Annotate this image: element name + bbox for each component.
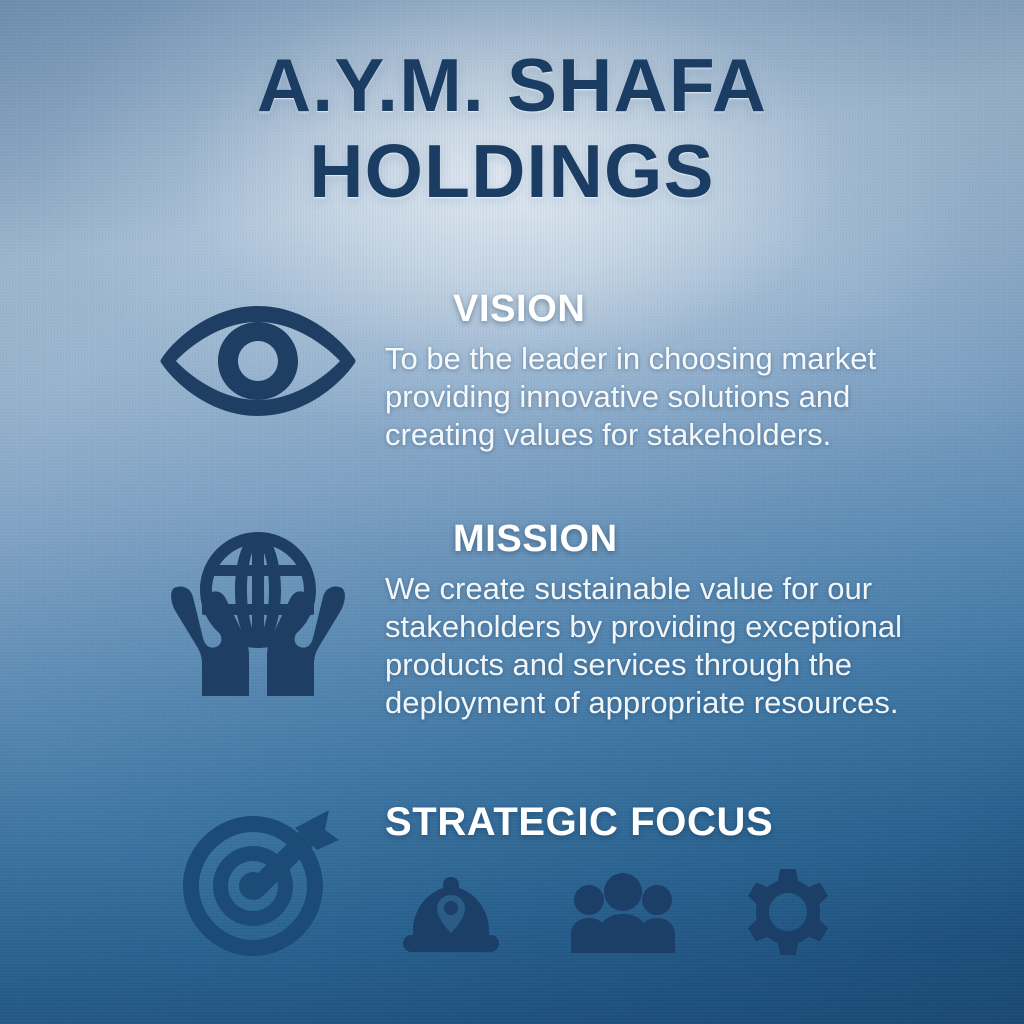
focus-item-operations: [743, 867, 833, 957]
eye-icon: [158, 300, 358, 420]
vision-heading: VISION: [385, 288, 946, 331]
strategy-text-block: STRATEGIC FOCUS: [385, 800, 962, 957]
section-vision: VISION To be the leader in choosing mark…: [130, 288, 946, 454]
strategy-icon-slot: [130, 800, 385, 971]
hard-hat-icon: [399, 873, 503, 957]
vision-body: To be the leader in choosing market prov…: [385, 340, 946, 454]
mission-text-block: MISSION We create sustainable value for …: [385, 518, 962, 722]
poster-canvas: A.Y.M. SHAFA HOLDINGS VISION To be the l…: [0, 0, 1024, 1024]
section-mission: MISSION We create sustainable value for …: [130, 518, 962, 722]
section-strategic-focus: STRATEGIC FOCUS: [130, 800, 962, 971]
company-title: A.Y.M. SHAFA HOLDINGS: [0, 42, 1024, 214]
strategic-focus-heading: STRATEGIC FOCUS: [385, 800, 962, 845]
vision-text-block: VISION To be the leader in choosing mark…: [385, 288, 946, 454]
people-group-icon: [567, 873, 679, 957]
strategic-focus-icon-row: [385, 867, 962, 957]
mission-heading: MISSION: [385, 518, 962, 561]
target-dart-icon: [173, 806, 343, 971]
mission-body: We create sustainable value for our stak…: [385, 570, 962, 722]
poster-content: A.Y.M. SHAFA HOLDINGS VISION To be the l…: [0, 0, 1024, 1024]
focus-item-people: [567, 873, 679, 957]
mission-icon-slot: [130, 518, 385, 700]
hands-holding-globe-icon: [164, 528, 352, 700]
vision-icon-slot: [130, 288, 385, 420]
focus-item-safety: [399, 873, 503, 957]
gear-icon: [743, 867, 833, 957]
title-line-1: A.Y.M. SHAFA: [0, 42, 1024, 128]
title-line-2: HOLDINGS: [0, 128, 1024, 214]
